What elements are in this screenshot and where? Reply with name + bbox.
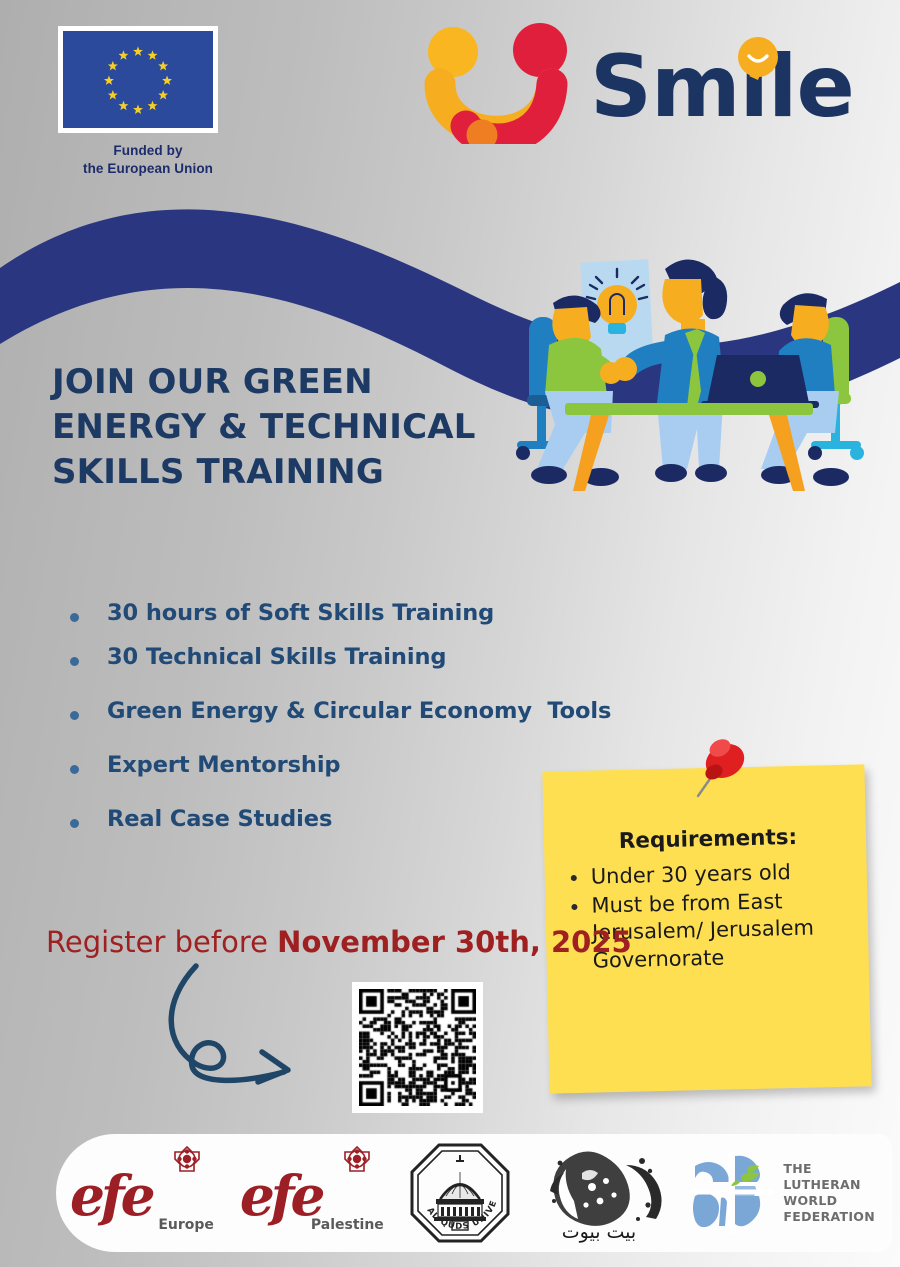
efe-palestine-sublabel: Palestine	[311, 1217, 384, 1233]
beit-byout-label: بيت بيوت	[562, 1221, 636, 1243]
pushpin-icon	[694, 736, 754, 802]
list-item: 30 Technical Skills Training	[70, 644, 710, 670]
lwf-line-2: LUTHERAN	[783, 1177, 875, 1193]
efe-palestine-logo: efe Palestine	[226, 1134, 396, 1252]
efe-europe-logo: efe Europe	[56, 1134, 226, 1252]
list-item: 30 hours of Soft Skills Training	[70, 600, 710, 626]
efe-europe-sublabel: Europe	[158, 1217, 214, 1233]
partner-logos-bar: efe Europe efe	[56, 1134, 892, 1252]
smile-dot-right	[513, 23, 567, 77]
lwf-wordmark: THE LUTHERAN WORLD FEDERATION	[783, 1161, 875, 1225]
efe-europe-wordmark: efe	[70, 1163, 152, 1228]
requirement-text: Under 30 years old	[590, 857, 851, 891]
efe-ornament-icon	[342, 1145, 372, 1175]
bullet-icon	[70, 657, 79, 666]
curved-arrow-to-qr	[148, 960, 378, 1105]
eu-caption-line1: Funded by	[58, 142, 238, 160]
beit-byout-icon: بيت بيوت	[530, 1143, 668, 1243]
bullet-icon	[571, 875, 577, 881]
bullet-icon	[70, 613, 79, 622]
bullet-icon	[70, 819, 79, 828]
efe-palestine-wordmark: efe	[240, 1163, 322, 1228]
beit-byout-logo: بيت بيوت	[524, 1134, 675, 1252]
smile-wordmark: Smile	[590, 44, 854, 130]
smile-mark-icon	[418, 22, 593, 144]
requirements-title: Requirements:	[566, 823, 851, 858]
headline-line-2: ENERGY & TECHNICAL	[52, 405, 522, 450]
benefit-text: Green Energy & Circular Economy Tools	[107, 698, 611, 724]
poster-canvas: Funded by the European Union Smile JOIN …	[0, 0, 900, 1267]
register-prefix: Register before	[46, 925, 277, 959]
lutheran-world-federation-logo: THE LUTHERAN WORLD FEDERATION	[674, 1134, 892, 1252]
bullet-icon	[70, 765, 79, 774]
arrow-svg	[148, 960, 378, 1105]
i-dot-circle	[738, 37, 778, 77]
page-title: JOIN OUR GREEN ENERGY & TECHNICAL SKILLS…	[52, 360, 522, 496]
qr-canvas[interactable]	[359, 989, 476, 1106]
al-quds-seal-icon: AL-QUDS UNIVERSITY	[408, 1141, 512, 1245]
european-union-flag	[58, 26, 218, 133]
eu-stars	[63, 31, 213, 131]
team-meeting-illustration	[505, 245, 875, 510]
lwf-line-4: FEDERATION	[783, 1209, 875, 1225]
eu-funding-block: Funded by the European Union	[58, 26, 238, 177]
arrow-head	[258, 1052, 288, 1082]
headline-line-1: JOIN OUR GREEN	[52, 360, 522, 405]
smile-logo: Smile	[418, 22, 868, 144]
lwf-emblem-icon	[691, 1152, 773, 1234]
eu-caption-line2: the European Union	[58, 160, 238, 178]
smile-i-dot-icon	[736, 36, 780, 84]
eu-funding-caption: Funded by the European Union	[58, 142, 238, 177]
list-item: Green Energy & Circular Economy Tools	[70, 698, 710, 724]
al-quds-university-seal: AL-QUDS UNIVERSITY	[396, 1134, 524, 1252]
efe-ornament-icon	[172, 1145, 202, 1175]
registration-deadline: Register before November 30th, 2025	[46, 925, 632, 959]
illustration-svg	[505, 245, 875, 510]
benefit-text: Expert Mentorship	[107, 752, 340, 778]
arrow-path	[171, 966, 284, 1080]
bullet-icon	[70, 711, 79, 720]
lwf-line-3: WORLD	[783, 1193, 875, 1209]
benefit-text: 30 hours of Soft Skills Training	[107, 600, 494, 626]
bullet-icon	[571, 903, 577, 909]
headline-line-3: SKILLS TRAINING	[52, 450, 522, 495]
register-deadline-date: November 30th, 2025	[277, 925, 632, 959]
benefit-text: 30 Technical Skills Training	[107, 644, 446, 670]
registration-qr-code[interactable]	[352, 982, 483, 1113]
lwf-line-1: THE	[783, 1161, 875, 1177]
benefit-text: Real Case Studies	[107, 806, 332, 832]
